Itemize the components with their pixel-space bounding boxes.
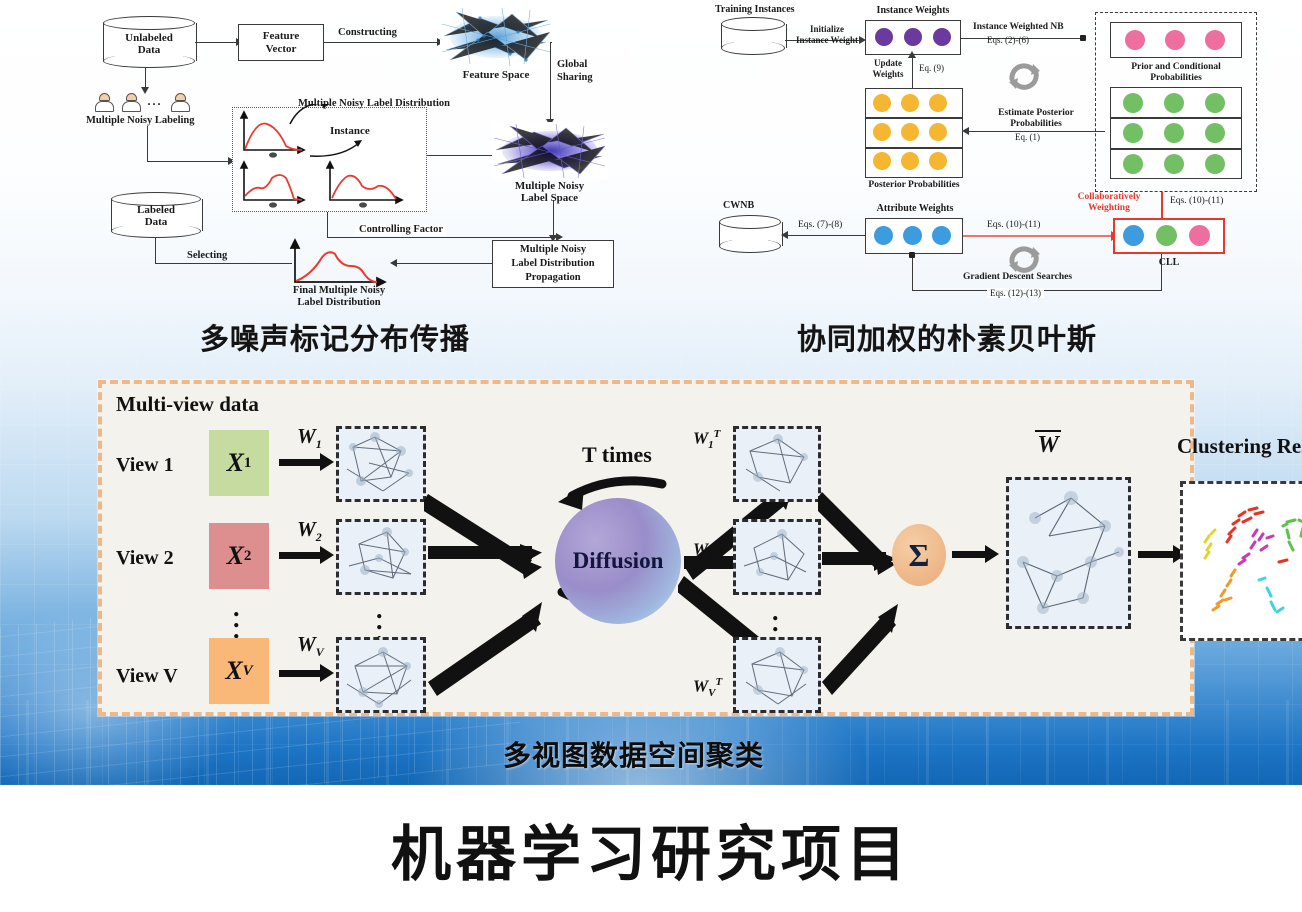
training-instances-label: Training Instances [715,4,795,15]
update-weights-label: UpdateWeights [867,58,909,80]
multiple-noisy-labeling-label: Multiple Noisy Labeling [86,115,195,126]
graph-w-bar [1006,477,1131,629]
recycle-icon [1003,238,1045,280]
conditional-divider [1110,148,1242,150]
posterior-divider [865,147,963,149]
feature-space-label: Feature Space [440,69,552,81]
graph-out-v [733,637,821,713]
conditional-dot [1205,123,1225,143]
slide-canvas: UnlabeledData FeatureVector Constructing [0,0,1302,912]
constructing-label: Constructing [338,27,397,38]
attribute-weight-dot [903,226,922,245]
arrow-wbar-to-result [1138,551,1174,558]
noisy-label-space-visual [492,122,607,180]
feature-space-visual [440,6,552,68]
arrow-viewv-to-graph [279,670,321,677]
attribute-weights-label: Attribute Weights [867,203,963,214]
eqs-10-11-right-label: Eqs. (10)-(11) [1170,196,1223,206]
conditional-dot [1164,93,1184,113]
w2-label: W2 [297,517,322,545]
instance-label: Instance [330,125,370,137]
wv-label: WV [297,632,324,660]
diagram-collaboratively-weighted-naive-bayes: Training Instances InitializeInstance We… [715,0,1260,300]
attribute-weight-dot [874,226,893,245]
posterior-dot [929,123,947,141]
posterior-dot [901,123,919,141]
edge-gradient-up [912,256,913,291]
conditional-divider [1110,117,1242,119]
propagation-label: Multiple NoisyLabel DistributionPropagat… [492,243,614,285]
labeled-data-label: LabeledData [113,204,199,228]
posterior-divider [865,117,963,119]
graph-view-v [336,637,426,713]
edge-unlabeled-to-feature [195,42,237,43]
posterior-dot [929,94,947,112]
conditional-dot [1164,123,1184,143]
edge-cll-down [1161,254,1162,291]
prior-dot [1205,30,1225,50]
conditional-dot [1164,154,1184,174]
edge-eqs-7-8 [785,235,865,236]
view-1-label: View 1 [116,454,174,477]
cwnb-cylinder [719,215,781,253]
graph-view-2 [336,519,426,595]
edge-corner [550,42,552,43]
cll-dot-blue [1123,225,1144,246]
multiview-data-title: Multi-view data [116,392,259,417]
final-distribution-label: Final Multiple NoisyLabel Distribution [283,285,395,309]
edge-controlling-down [327,212,328,238]
posterior-dot [929,152,947,170]
instance-weights-label: Instance Weights [865,5,961,16]
posterior-probabilities-label: Posterior Probabilities [865,180,963,190]
eqs-12-13-label: Eqs. (12)-(13) [987,288,1044,298]
instance-weight-dot [904,28,922,46]
posterior-dot [901,152,919,170]
edge-terminal [1080,35,1086,41]
arrowhead [141,87,149,94]
posterior-dot [873,123,891,141]
w-bar-label: W [983,432,1113,459]
conditional-dot [1205,154,1225,174]
edge-constructing [324,42,438,43]
wvt-label: WVT [693,676,722,699]
unlabeled-data-label: UnlabeledData [111,32,187,56]
eqs-7-8-label: Eqs. (7)-(8) [798,220,842,230]
page-title: 机器学习研究项目 [0,806,1302,893]
edge-propagation-left [395,263,492,264]
view-v-matrix: XV [209,638,269,704]
graph-out-1 [733,426,821,502]
conditional-dot [1205,93,1225,113]
edge-space-to-propagation [553,200,554,238]
view-2-matrix: X2 [209,523,269,589]
view-ellipsis: ... [233,602,240,635]
prior-conditional-label: Prior and ConditionalProbabilities [1097,62,1255,84]
w1t-label: W1T [693,428,720,451]
prior-dot [1165,30,1185,50]
edge-terminal [909,252,915,258]
edge-labelers-down [147,126,148,162]
eq-9-label: Eq. (9) [919,63,944,73]
controlling-factor-label: Controlling Factor [355,224,447,235]
edge-selecting-up [155,236,156,264]
arrowhead [781,231,788,239]
cll-dot-green [1156,225,1177,246]
clustering-result-plot [1180,481,1302,641]
prior-dot [1125,30,1145,50]
arrow-sigma-to-wbar [952,551,986,558]
view-v-label: View V [116,665,178,688]
caption-bottom: 多视图数据空间聚类 [503,734,764,774]
cll-label: CLL [1113,257,1225,268]
recycle-icon [1003,55,1045,97]
t-times-label: T times [582,442,652,468]
conditional-dot [1123,93,1143,113]
edge-update-weights-2 [912,55,913,89]
edge-selecting [155,263,292,264]
conditional-dot [1123,154,1143,174]
eqs-2-6-label: Eqs. (2)-(6) [987,35,1029,45]
noisy-label-space-label: Multiple NoisyLabel Space [492,180,607,204]
edge-labelers-right [147,161,229,162]
view-2-label: View 2 [116,547,174,570]
sigma-node: Σ [892,524,946,586]
eqs-10-11-mid-label: Eqs. (10)-(11) [987,220,1040,230]
cwnb-label: CWNB [723,200,754,211]
initialize-weight-label: InitializeInstance Weight [793,24,861,46]
labeler-icon-3 [171,93,190,112]
instance-weight-dot [875,28,893,46]
global-sharing-label: GlobalSharing [557,58,593,84]
diagram-multi-noisy-label-propagation: UnlabeledData FeatureVector Constructing [95,0,655,300]
collaboratively-weighting-label: CollaborativelyWeighting [1063,192,1155,214]
diffusion-node: Diffusion [555,498,681,624]
instance-weighted-nb-label: Instance Weighted NB [973,22,1064,32]
diagram-multiview-clustering: Multi-view data View 1 X1 W1 View 2 X2 W… [98,380,1194,716]
conditional-dot [1123,123,1143,143]
caption-right: 协同加权的朴素贝叶斯 [797,316,1097,358]
clustering-result-label: Clustering Result [1177,434,1302,459]
estimate-posterior-label: Estimate PosteriorProbabilities [981,108,1091,130]
w1-label: W1 [297,424,322,452]
graph-out-2 [733,519,821,595]
w2t-label: W2T [693,539,720,562]
labeler-icon-2 [122,93,141,112]
graph-view-1 [336,426,426,502]
final-distribution-curve [285,236,395,290]
labeler-icon-1 [95,93,114,112]
instance-weight-dot [933,28,951,46]
distribution-curves [232,104,432,216]
selecting-label: Selecting [187,250,227,261]
edge-attribute-to-cll [963,235,1113,237]
posterior-dot [901,94,919,112]
caption-left: 多噪声标记分布传播 [200,316,470,358]
attribute-weight-dot [932,226,951,245]
graph-out-ellipsis: ... [772,606,779,639]
labeler-ellipsis: ··· [147,97,162,112]
feature-vector-label: FeatureVector [238,30,324,56]
edge-global-sharing [550,42,551,123]
training-instances-cylinder [721,17,785,55]
cll-dot-pink [1189,225,1210,246]
arrowhead [962,127,969,135]
posterior-dot [873,152,891,170]
arrow-view1-to-graph [279,459,321,466]
eq-1-label: Eq. (1) [1015,132,1040,142]
posterior-dot [873,94,891,112]
graph-ellipsis: ... [376,604,383,637]
arrow-view2-to-graph [279,552,321,559]
view-1-matrix: X1 [209,430,269,496]
